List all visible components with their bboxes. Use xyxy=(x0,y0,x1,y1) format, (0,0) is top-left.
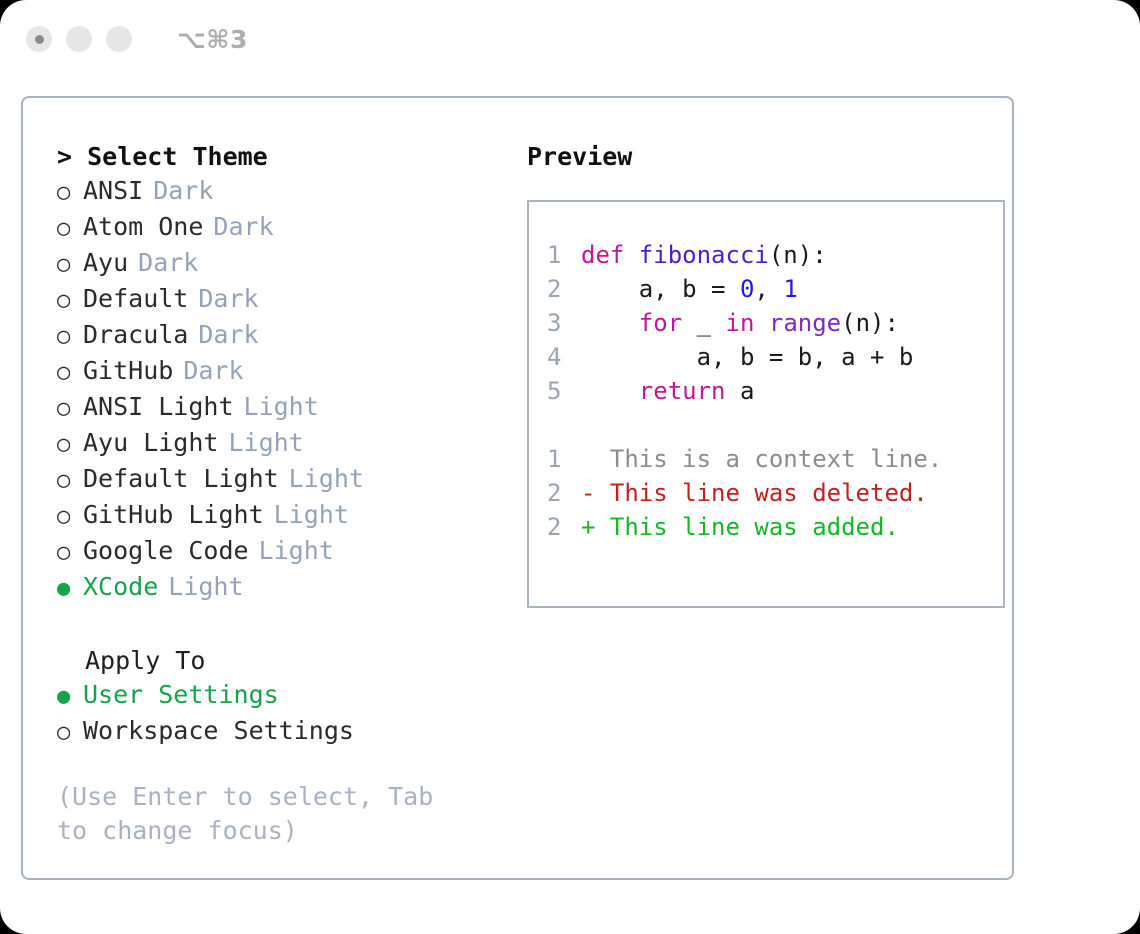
code-line-content: def fibonacci(n): xyxy=(581,238,827,272)
code-line: 5 return a xyxy=(547,374,1003,408)
radio-selected-icon: ● xyxy=(57,680,83,714)
panel-columns: > Select Theme ○ANSIDark○Atom OneDark○Ay… xyxy=(23,98,1012,878)
code-token-plain: a, b = xyxy=(581,275,740,303)
theme-list: ○ANSIDark○Atom OneDark○AyuDark○DefaultDa… xyxy=(57,174,499,606)
diff-line: 2- This line was deleted. xyxy=(547,476,1003,510)
select-theme-heading: > Select Theme xyxy=(57,140,499,174)
theme-option-name: Ayu xyxy=(83,246,128,280)
radio-unselected-icon: ○ xyxy=(57,320,83,354)
keyboard-hint-text: (Use Enter to select, Tab to change focu… xyxy=(57,780,477,848)
code-token-plain: a xyxy=(726,377,755,405)
title-bar: ⌥⌘3 xyxy=(0,0,1140,78)
diff-line-number: 1 xyxy=(547,442,581,476)
theme-option-xcode[interactable]: ●XCodeLight xyxy=(57,570,499,606)
code-token-plain: , xyxy=(754,275,783,303)
diff-line: 1 This is a context line. xyxy=(547,442,1003,476)
apply-to-option-workspace-settings[interactable]: ○Workspace Settings xyxy=(57,714,499,750)
code-token-builtin: range xyxy=(769,309,841,337)
diff-line-content: This line was added. xyxy=(595,510,898,544)
theme-option-tag: Dark xyxy=(183,354,243,388)
radio-unselected-icon: ○ xyxy=(57,212,83,246)
traffic-light-minimize[interactable] xyxy=(66,26,92,52)
app-window: ⌥⌘3 > Select Theme ○ANSIDark○Atom OneDar… xyxy=(0,0,1140,934)
theme-option-github-light[interactable]: ○GitHub LightLight xyxy=(57,498,499,534)
radio-unselected-icon: ○ xyxy=(57,248,83,282)
radio-unselected-icon: ○ xyxy=(57,392,83,426)
apply-to-list: ●User Settings○Workspace Settings xyxy=(57,678,499,750)
theme-option-default[interactable]: ○DefaultDark xyxy=(57,282,499,318)
code-sample-block: 1def fibonacci(n):2 a, b = 0, 13 for _ i… xyxy=(547,238,1003,408)
code-line: 2 a, b = 0, 1 xyxy=(547,272,1003,306)
traffic-light-maximize[interactable] xyxy=(106,26,132,52)
apply-to-option-user-settings[interactable]: ●User Settings xyxy=(57,678,499,714)
theme-option-ansi[interactable]: ○ANSIDark xyxy=(57,174,499,210)
diff-marker: + xyxy=(581,510,595,544)
keyboard-shortcut-label: ⌥⌘3 xyxy=(177,25,248,54)
theme-option-tag: Light xyxy=(259,534,334,568)
code-line-content: a, b = 0, 1 xyxy=(581,272,798,306)
theme-option-name: XCode xyxy=(83,570,158,604)
code-line: 1def fibonacci(n): xyxy=(547,238,1003,272)
theme-option-tag: Dark xyxy=(153,174,213,208)
code-token-plain xyxy=(754,309,768,337)
diff-line-number: 2 xyxy=(547,510,581,544)
preview-heading: Preview xyxy=(527,140,1012,174)
theme-option-name: GitHub xyxy=(83,354,173,388)
code-token-plain: (n): xyxy=(769,241,827,269)
theme-option-name: Google Code xyxy=(83,534,249,568)
apply-to-heading: Apply To xyxy=(57,644,499,678)
diff-line-content: This is a context line. xyxy=(595,442,942,476)
code-line-number: 5 xyxy=(547,374,581,408)
radio-unselected-icon: ○ xyxy=(57,536,83,570)
theme-option-name: GitHub Light xyxy=(83,498,264,532)
theme-option-name: Ayu Light xyxy=(83,426,218,460)
theme-option-ansi-light[interactable]: ○ANSI LightLight xyxy=(57,390,499,426)
theme-option-tag: Light xyxy=(274,498,349,532)
code-token-kw: def xyxy=(581,241,639,269)
theme-selector-column: > Select Theme ○ANSIDark○Atom OneDark○Ay… xyxy=(39,140,499,878)
theme-option-name: Dracula xyxy=(83,318,188,352)
code-token-plain: _ xyxy=(682,309,725,337)
theme-option-tag: Dark xyxy=(213,210,273,244)
radio-unselected-icon: ○ xyxy=(57,176,83,210)
radio-unselected-icon: ○ xyxy=(57,716,83,750)
theme-option-tag: Light xyxy=(289,462,364,496)
code-token-plain: a, b = b, a + b xyxy=(581,343,913,371)
theme-option-name: Default xyxy=(83,282,188,316)
code-line-number: 2 xyxy=(547,272,581,306)
code-token-plain: (n): xyxy=(841,309,899,337)
diff-line-number: 2 xyxy=(547,476,581,510)
theme-option-tag: Dark xyxy=(198,282,258,316)
diff-sample-block: 1 This is a context line.2- This line wa… xyxy=(547,442,1003,544)
apply-to-option-name: User Settings xyxy=(83,678,279,712)
theme-option-name: ANSI xyxy=(83,174,143,208)
code-token-kw: return xyxy=(639,377,726,405)
code-token-num: 0 xyxy=(740,275,754,303)
diff-marker xyxy=(581,442,595,476)
diff-line: 2+ This line was added. xyxy=(547,510,1003,544)
code-token-kw: in xyxy=(726,309,755,337)
code-token-num: 1 xyxy=(783,275,797,303)
code-line-content: a, b = b, a + b xyxy=(581,340,913,374)
code-line-number: 3 xyxy=(547,306,581,340)
theme-option-name: ANSI Light xyxy=(83,390,234,424)
apply-to-option-name: Workspace Settings xyxy=(83,714,354,748)
code-line: 3 for _ in range(n): xyxy=(547,306,1003,340)
theme-option-tag: Light xyxy=(244,390,319,424)
radio-unselected-icon: ○ xyxy=(57,356,83,390)
code-line: 4 a, b = b, a + b xyxy=(547,340,1003,374)
theme-option-name: Default Light xyxy=(83,462,279,496)
traffic-light-close[interactable] xyxy=(26,26,52,52)
diff-line-content: This line was deleted. xyxy=(595,476,927,510)
radio-unselected-icon: ○ xyxy=(57,284,83,318)
theme-option-ayu[interactable]: ○AyuDark xyxy=(57,246,499,282)
theme-option-tag: Light xyxy=(228,426,303,460)
preview-column: Preview 1def fibonacci(n):2 a, b = 0, 13… xyxy=(499,140,1012,878)
theme-option-tag: Dark xyxy=(198,318,258,352)
radio-unselected-icon: ○ xyxy=(57,464,83,498)
code-token-plain xyxy=(581,377,639,405)
code-line-content: for _ in range(n): xyxy=(581,306,899,340)
theme-option-name: Atom One xyxy=(83,210,203,244)
theme-option-github[interactable]: ○GitHubDark xyxy=(57,354,499,390)
code-token-plain xyxy=(581,309,639,337)
theme-option-google-code[interactable]: ○Google CodeLight xyxy=(57,534,499,570)
theme-option-tag: Dark xyxy=(138,246,198,280)
radio-unselected-icon: ○ xyxy=(57,428,83,462)
main-panel: > Select Theme ○ANSIDark○Atom OneDark○Ay… xyxy=(21,96,1014,880)
theme-option-dracula[interactable]: ○DraculaDark xyxy=(57,318,499,354)
radio-unselected-icon: ○ xyxy=(57,500,83,534)
code-line-number: 4 xyxy=(547,340,581,374)
code-token-kw: for xyxy=(639,309,682,337)
diff-marker: - xyxy=(581,476,595,510)
theme-option-ayu-light[interactable]: ○Ayu LightLight xyxy=(57,426,499,462)
theme-option-atom-one[interactable]: ○Atom OneDark xyxy=(57,210,499,246)
theme-option-default-light[interactable]: ○Default LightLight xyxy=(57,462,499,498)
radio-selected-icon: ● xyxy=(57,572,83,606)
code-line-number: 1 xyxy=(547,238,581,272)
theme-option-tag: Light xyxy=(168,570,243,604)
preview-box: 1def fibonacci(n):2 a, b = 0, 13 for _ i… xyxy=(527,200,1005,608)
code-line-content: return a xyxy=(581,374,754,408)
code-token-fn: fibonacci xyxy=(639,241,769,269)
